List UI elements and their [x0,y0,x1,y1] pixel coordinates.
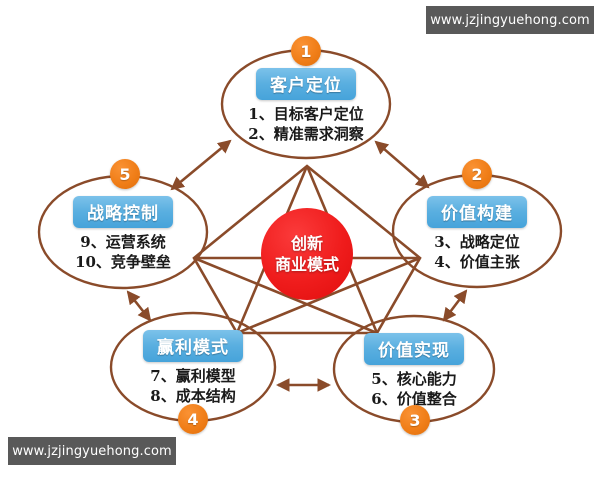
node-4-item-2: 8、成本结构 [113,386,273,406]
node-1-title[interactable]: 客户定位 [256,68,356,100]
node-2-item-1: 3、战略定位 [392,232,562,252]
node-3-title[interactable]: 价值实现 [364,333,464,365]
arrow-2-to-3 [444,291,466,320]
center-line-1: 创新 [291,233,323,254]
node-2-title[interactable]: 价值构建 [427,196,527,228]
node-4-number: 4 [187,410,198,429]
node-5-item-1: 9、运营系统 [38,232,208,252]
node-1-item-2: 2、精准需求洞察 [216,124,396,144]
node-4-items: 7、赢利模型 8、成本结构 [113,366,273,406]
node-2[interactable]: 价值构建 3、战略定位 4、价值主张 [392,196,562,272]
node-2-badge: 2 [462,159,492,189]
node-5-number: 5 [119,165,130,184]
node-5[interactable]: 战略控制 9、运营系统 10、竞争壁垒 [38,196,208,272]
arrow-4-to-5 [128,292,150,320]
node-4[interactable]: 赢利模式 7、赢利模型 8、成本结构 [113,330,273,406]
node-3-number: 3 [409,411,420,430]
node-2-item-2: 4、价值主张 [392,252,562,272]
node-1-badge: 1 [291,36,321,66]
node-3-badge: 3 [400,405,430,435]
node-2-items: 3、战略定位 4、价值主张 [392,232,562,272]
node-5-item-2: 10、竞争壁垒 [38,252,208,272]
node-3-item-1: 5、核心能力 [334,369,494,389]
node-4-title[interactable]: 赢利模式 [143,330,243,362]
node-1-item-1: 1、目标客户定位 [216,104,396,124]
diagram-canvas: 创新 商业模式 客户定位 1、目标客户定位 2、精准需求洞察 1 价值构建 3、… [0,0,600,480]
node-1-items: 1、目标客户定位 2、精准需求洞察 [216,104,396,144]
arrow-5-to-1 [172,141,230,189]
watermark-bottom: www.jzjingyuehong.com [8,437,176,465]
arrow-1-to-2 [376,142,428,187]
watermark-top: www.jzjingyuehong.com [426,6,594,34]
center-core: 创新 商业模式 [261,208,353,300]
node-4-item-1: 7、赢利模型 [113,366,273,386]
node-1-number: 1 [300,42,311,61]
node-5-badge: 5 [110,159,140,189]
node-3[interactable]: 价值实现 5、核心能力 6、价值整合 [334,333,494,409]
node-2-number: 2 [471,165,482,184]
node-5-title[interactable]: 战略控制 [73,196,173,228]
node-3-items: 5、核心能力 6、价值整合 [334,369,494,409]
node-4-badge: 4 [178,404,208,434]
node-1[interactable]: 客户定位 1、目标客户定位 2、精准需求洞察 [216,68,396,144]
center-line-2: 商业模式 [275,254,339,275]
node-5-items: 9、运营系统 10、竞争壁垒 [38,232,208,272]
